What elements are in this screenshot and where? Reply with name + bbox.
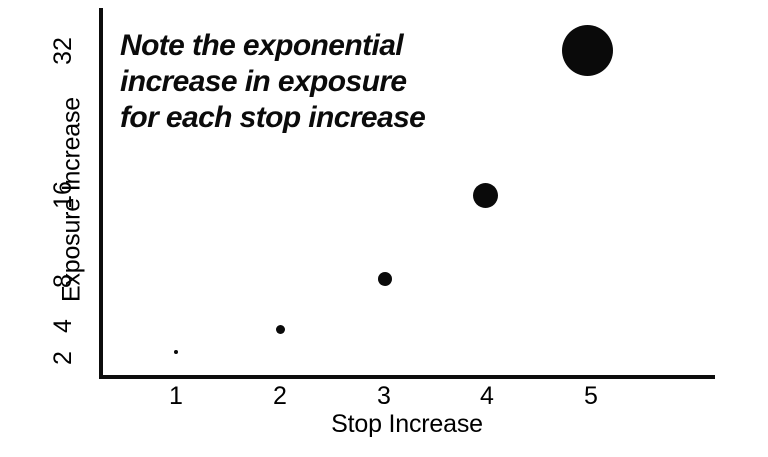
- x-tick-label-1: 1: [146, 382, 206, 410]
- data-point-stop-4: [473, 183, 498, 208]
- x-axis-line: [99, 375, 715, 379]
- y-tick-label-2: 2: [50, 328, 76, 388]
- y-tick-32: 32: [33, 38, 93, 64]
- y-tick-label-32: 32: [50, 21, 76, 81]
- x-tick-label-2: 2: [250, 382, 310, 410]
- x-axis-title: Stop Increase: [99, 410, 715, 439]
- y-axis-line: [99, 8, 103, 379]
- data-point-stop-5: [562, 25, 613, 76]
- data-point-stop-3: [378, 272, 392, 286]
- y-tick-label-16: 16: [50, 165, 76, 225]
- y-tick-16: 16: [33, 182, 93, 208]
- annotation-line-1: Note the exponential: [120, 28, 520, 64]
- chart-figure: Exposure Increase Stop Increase 32 16 8 …: [0, 0, 768, 457]
- y-tick-8: 8: [33, 268, 93, 294]
- y-tick-2: 2: [33, 345, 93, 371]
- x-tick-label-4: 4: [457, 382, 517, 410]
- annotation-line-3: for each stop increase: [120, 100, 520, 136]
- annotation-line-2: increase in exposure: [120, 64, 520, 100]
- x-tick-label-3: 3: [354, 382, 414, 410]
- data-point-stop-1: [174, 350, 178, 354]
- x-tick-label-5: 5: [561, 382, 621, 410]
- chart-annotation: Note the exponential increase in exposur…: [120, 28, 520, 136]
- data-point-stop-2: [276, 325, 285, 334]
